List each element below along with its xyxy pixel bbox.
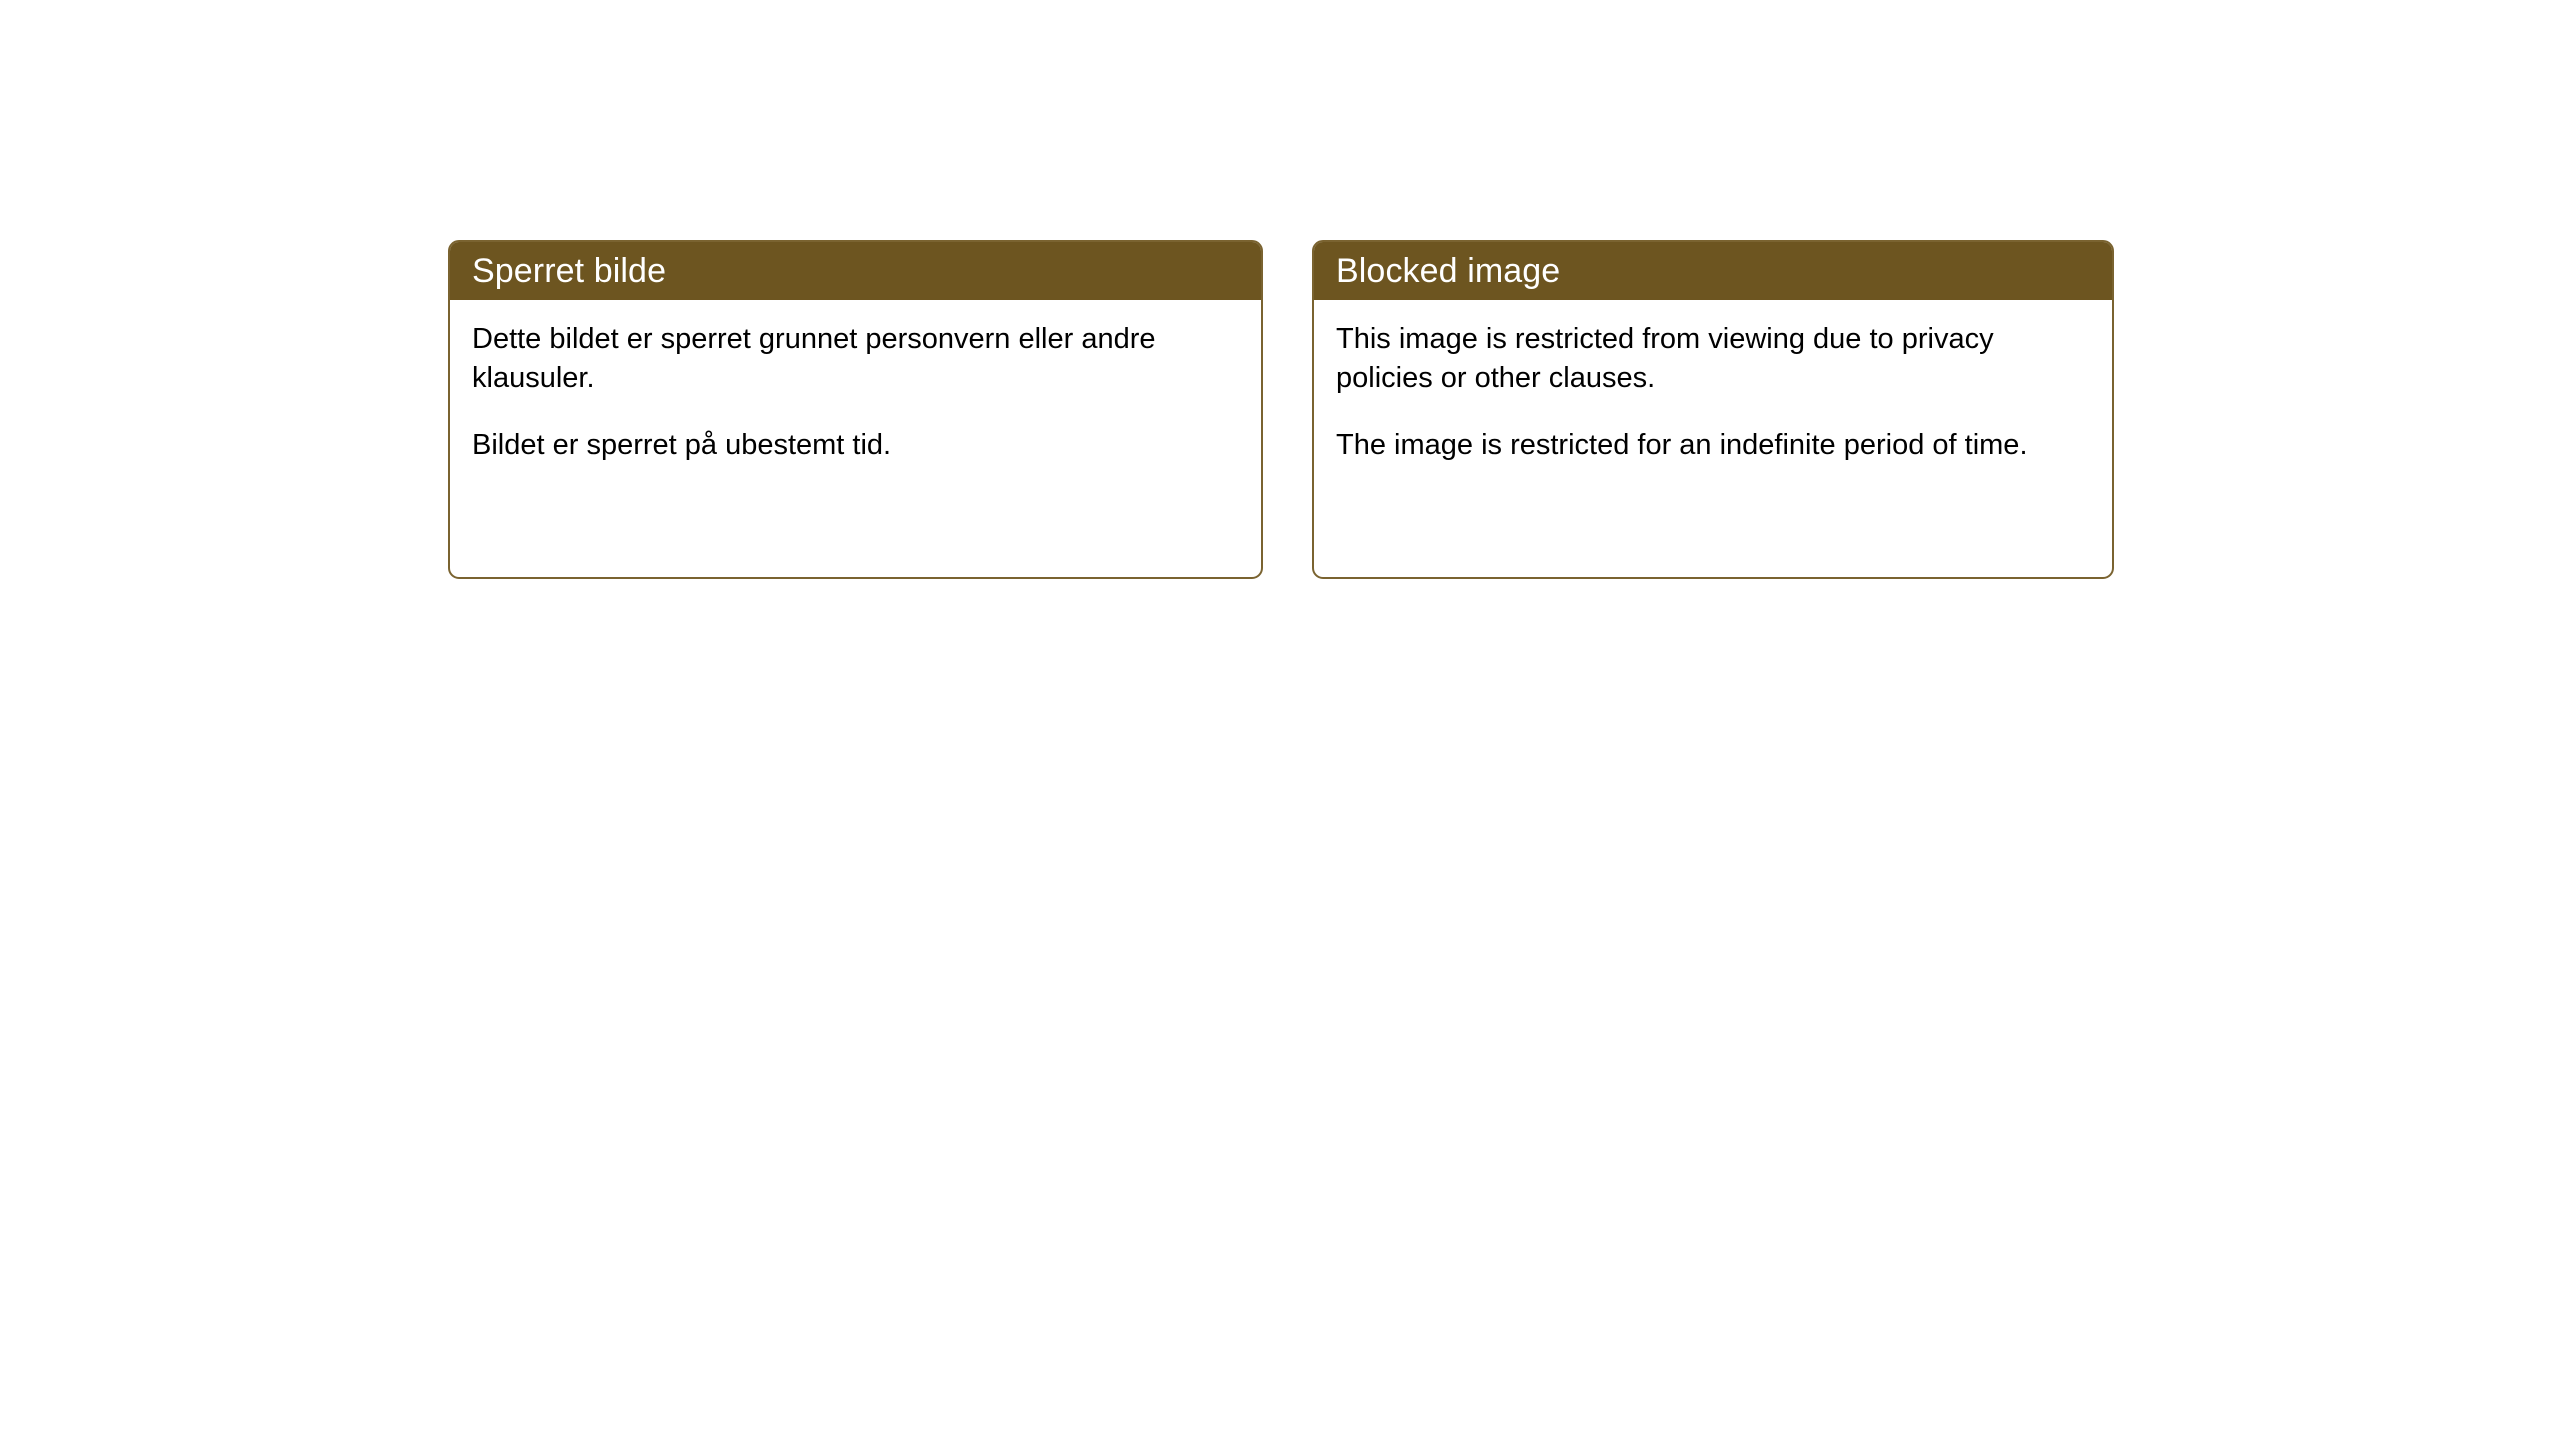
- notice-paragraph-reason-english: This image is restricted from viewing du…: [1336, 320, 2090, 397]
- notice-card-header-norwegian: Sperret bilde: [450, 242, 1261, 300]
- notice-paragraph-reason-norwegian: Dette bildet er sperret grunnet personve…: [472, 320, 1239, 397]
- paragraph-spacer: [472, 397, 1239, 426]
- blocked-image-notice-card-english: Blocked image This image is restricted f…: [1312, 240, 2114, 579]
- notice-card-header-english: Blocked image: [1314, 242, 2112, 300]
- notice-card-body-norwegian: Dette bildet er sperret grunnet personve…: [450, 300, 1261, 465]
- notice-card-title-norwegian: Sperret bilde: [472, 254, 666, 288]
- notice-card-title-english: Blocked image: [1336, 254, 1560, 288]
- page-canvas: Sperret bilde Dette bildet er sperret gr…: [0, 0, 2560, 1440]
- notice-paragraph-duration-norwegian: Bildet er sperret på ubestemt tid.: [472, 426, 1239, 465]
- notice-paragraph-duration-english: The image is restricted for an indefinit…: [1336, 426, 2090, 465]
- blocked-image-notice-card-norwegian: Sperret bilde Dette bildet er sperret gr…: [448, 240, 1263, 579]
- paragraph-spacer: [1336, 397, 2090, 426]
- notice-card-body-english: This image is restricted from viewing du…: [1314, 300, 2112, 465]
